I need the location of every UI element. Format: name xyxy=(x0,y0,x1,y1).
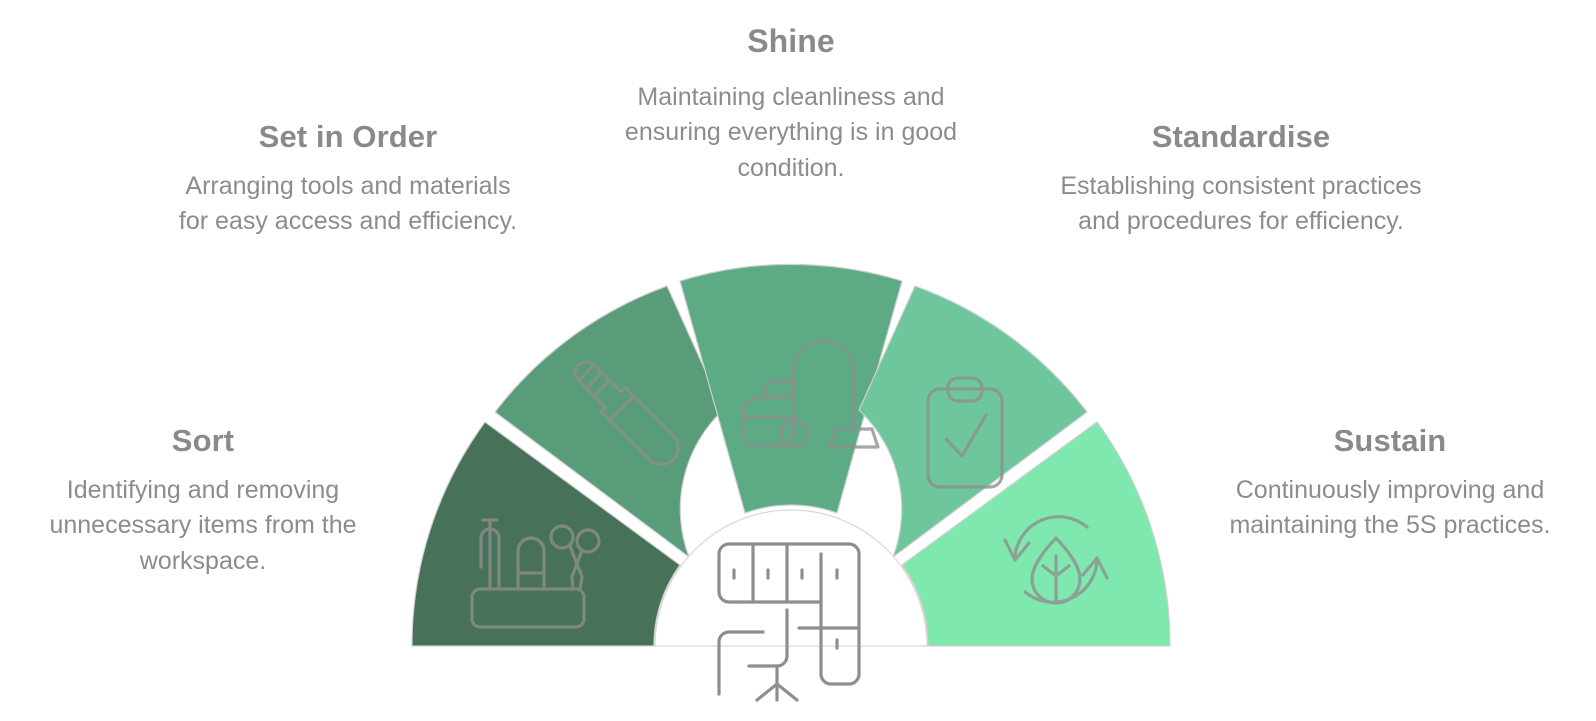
label-description-sort: Identifying and removing unnecessary ite… xyxy=(8,473,398,580)
label-title-shine: Shine xyxy=(602,24,980,60)
center-hub-circle xyxy=(655,510,927,646)
label-title-sort: Sort xyxy=(8,424,398,459)
center-hub xyxy=(655,510,927,700)
label-block-sort: Sort Identifying and removing unnecessar… xyxy=(8,424,398,579)
label-title-sustain: Sustain xyxy=(1190,424,1590,459)
label-block-sustain: Sustain Continuously improving and maint… xyxy=(1190,424,1590,544)
diagram-canvas: Sort Identifying and removing unnecessar… xyxy=(0,0,1596,721)
label-description-sustain: Continuously improving and maintaining t… xyxy=(1190,473,1590,544)
label-description-set-in-order: Arranging tools and materials for easy a… xyxy=(178,169,518,240)
label-description-shine: Maintaining cleanliness and ensuring eve… xyxy=(602,80,980,187)
label-block-set-in-order: Set in Order Arranging tools and materia… xyxy=(178,120,518,240)
label-block-standardise: Standardise Establishing consistent prac… xyxy=(1052,120,1430,240)
label-title-set-in-order: Set in Order xyxy=(178,120,518,155)
label-description-standardise: Establishing consistent practices and pr… xyxy=(1052,169,1430,240)
label-title-standardise: Standardise xyxy=(1052,120,1430,155)
label-block-shine: Shine Maintaining cleanliness and ensuri… xyxy=(602,24,980,186)
